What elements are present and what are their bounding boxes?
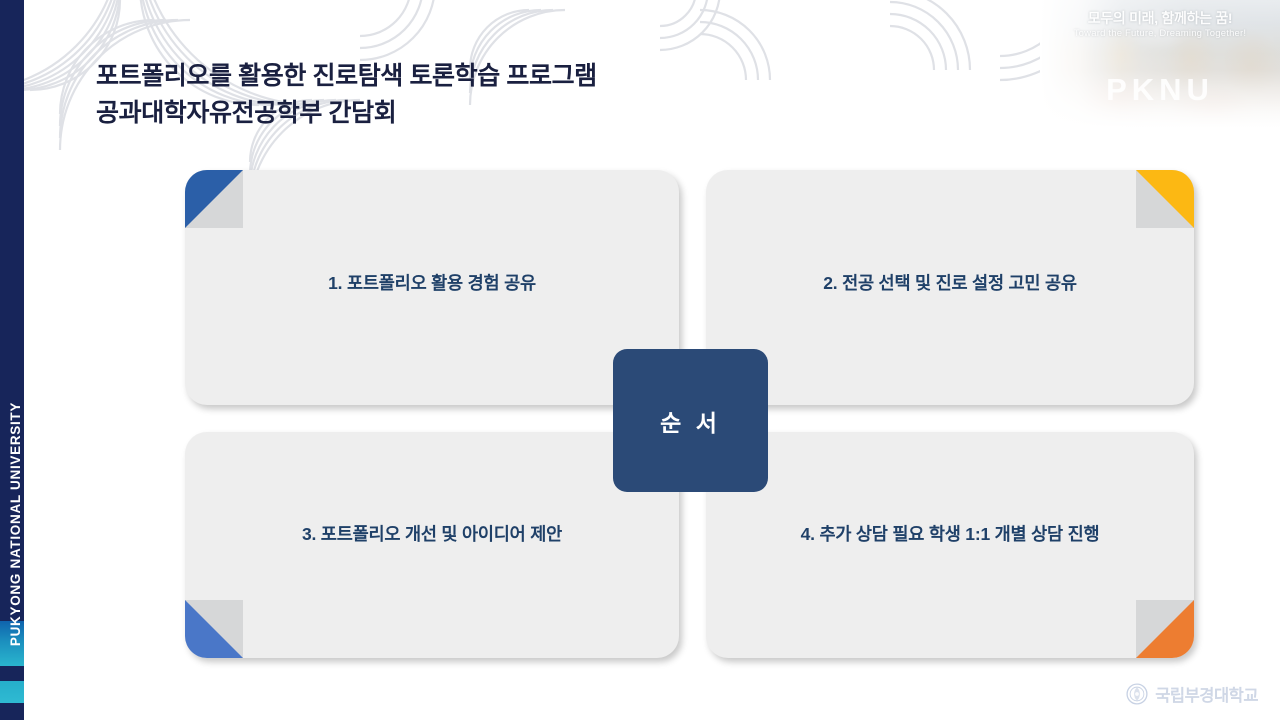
center-agenda-badge: 순 서 (613, 349, 768, 492)
footer-university-name: 국립부경대학교 (1155, 682, 1258, 706)
agenda-card-4-label: 4. 추가 상담 필요 학생 1:1 개별 상담 진행 (706, 521, 1194, 546)
agenda-card-3-label: 3. 포트폴리오 개선 및 아이디어 제안 (185, 521, 679, 546)
pknu-seal-icon (1126, 683, 1148, 705)
slide-title: 포트폴리오를 활용한 진로탐색 토론학습 프로그램 공과대학자유전공학부 간담회 (96, 58, 597, 132)
sidebar-university-label: PUKYONG NATIONAL UNIVERSITY (4, 374, 28, 674)
agenda-card-3[interactable]: 3. 포트폴리오 개선 및 아이디어 제안 (185, 432, 679, 658)
card-1-corner-triangle (185, 170, 243, 228)
agenda-card-2[interactable]: 2. 전공 선택 및 진로 설정 고민 공유 (706, 170, 1194, 405)
sidebar-accent-band-lower (0, 681, 24, 703)
title-line-2: 공과대학자유전공학부 간담회 (96, 95, 597, 132)
footer-university-logo: 국립부경대학교 (1126, 682, 1258, 706)
agenda-card-1[interactable]: 1. 포트폴리오 활용 경험 공유 (185, 170, 679, 405)
banner-pknu-watermark: PKNU (1040, 72, 1280, 108)
presentation-slide: 모두의 미래, 함께하는 꿈! Toward the Future, Dream… (0, 0, 1280, 720)
card-3-corner-triangle (185, 600, 243, 658)
title-line-1: 포트폴리오를 활용한 진로탐색 토론학습 프로그램 (96, 58, 597, 95)
agenda-card-4[interactable]: 4. 추가 상담 필요 학생 1:1 개별 상담 진행 (706, 432, 1194, 658)
agenda-card-2-label: 2. 전공 선택 및 진로 설정 고민 공유 (706, 270, 1194, 295)
banner-slogan-korean: 모두의 미래, 함께하는 꿈! (1040, 8, 1280, 28)
banner-slogan-english: Toward the Future, Dreaming Together! (1040, 28, 1280, 39)
center-agenda-badge-label: 순 서 (660, 404, 721, 438)
agenda-card-1-label: 1. 포트폴리오 활용 경험 공유 (185, 270, 679, 295)
card-2-corner-triangle (1136, 170, 1194, 228)
card-4-corner-triangle (1136, 600, 1194, 658)
campus-banner: 모두의 미래, 함께하는 꿈! Toward the Future, Dream… (1040, 0, 1280, 128)
